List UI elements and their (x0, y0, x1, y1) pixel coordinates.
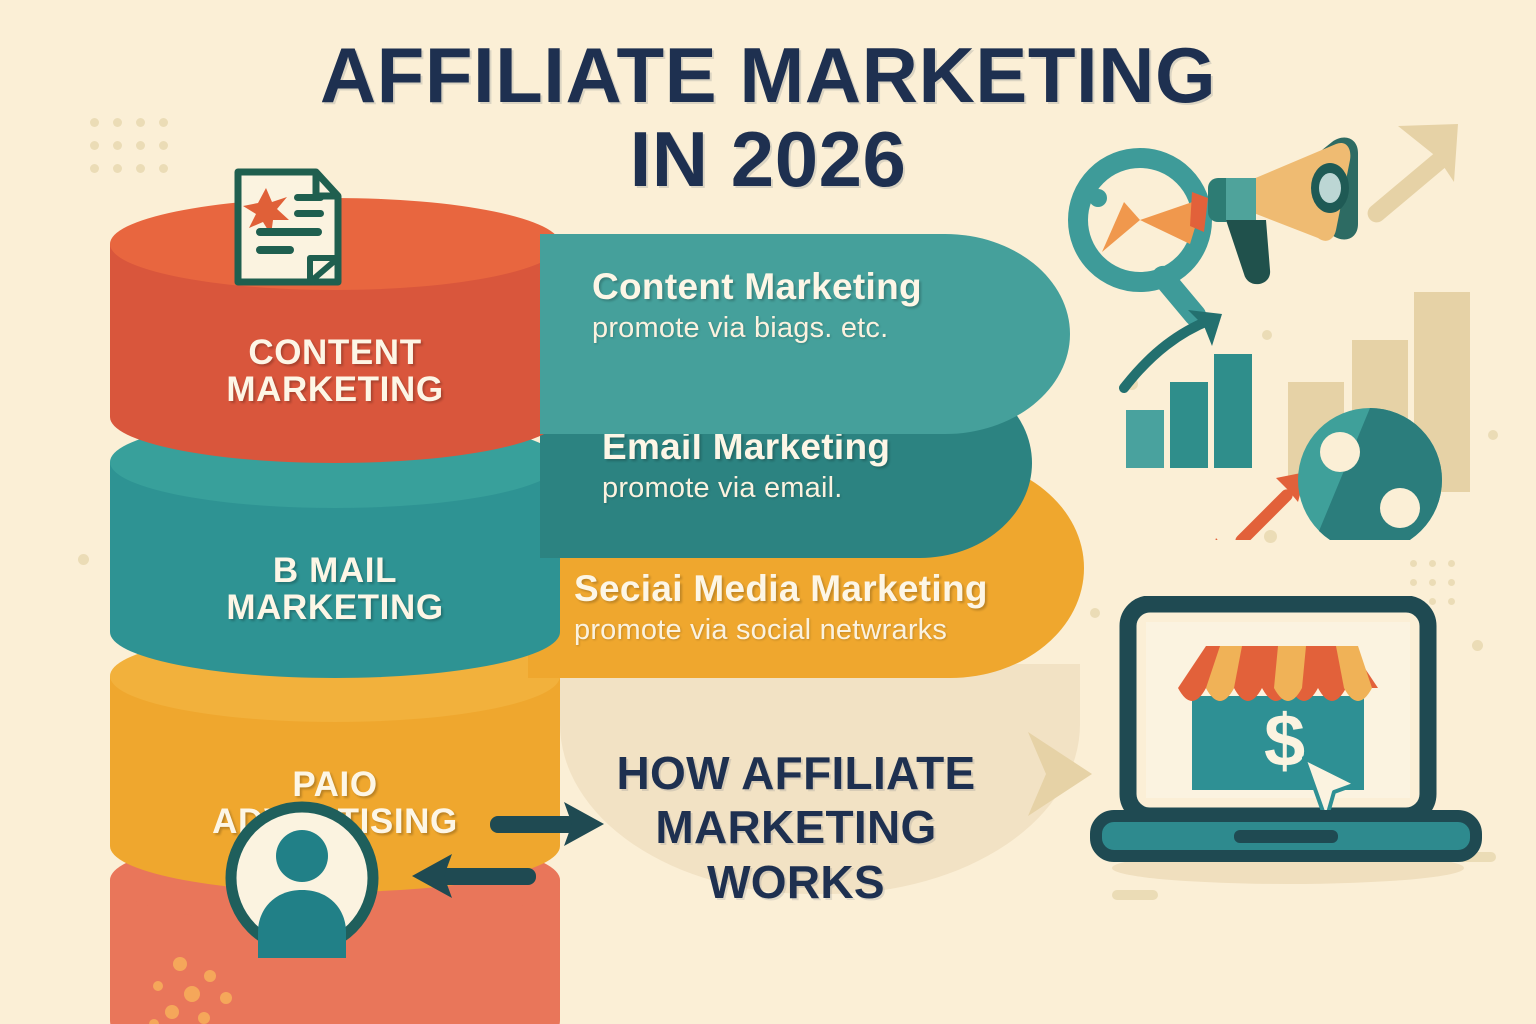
decorative-speck (1112, 890, 1158, 900)
channel-subtext: promote via social netwrarks (574, 614, 947, 647)
growth-arrow-icon (1364, 124, 1458, 226)
decorative-dot-grid-top-left (90, 118, 168, 173)
infographic-canvas: AFFILIATE MARKETING IN 2026 Seciai Media… (0, 0, 1536, 1024)
works-line-1: HOW AFFILIATE (576, 746, 1016, 800)
works-line-3: WORKS (576, 855, 1016, 909)
bar-chart-growth-icon (1124, 310, 1252, 468)
funnel-layer-label-line2: MARKETING (110, 589, 560, 626)
funnel-layer-label-line1: B MAIL (110, 552, 560, 589)
magnifying-glass-icon (1078, 158, 1211, 331)
channel-banner-content[interactable]: Content Marketing promote via biags. etc… (540, 234, 1070, 434)
funnel-layer-label: CONTENT MARKETING (110, 334, 560, 408)
works-line-2: MARKETING (576, 800, 1016, 854)
arrow-left-icon (412, 854, 536, 898)
document-star-icon (232, 166, 344, 288)
title-line-1: AFFILIATE MARKETING (0, 36, 1536, 114)
decorative-speck (78, 554, 89, 565)
double-arrow-icon (1208, 472, 1306, 540)
dollar-sign-icon: $ (1264, 699, 1305, 782)
person-avatar-icon[interactable] (222, 798, 382, 958)
funnel-layer-label-line2: MARKETING (110, 371, 560, 408)
channel-heading: Seciai Media Marketing (574, 568, 988, 610)
channel-subtext: promote via email. (602, 472, 843, 505)
funnel-layer-label: B MAIL MARKETING (110, 552, 560, 626)
channel-heading: Content Marketing (592, 266, 922, 308)
marketing-icon-cluster (1040, 120, 1510, 540)
funnel-layer-label-line1: CONTENT (110, 334, 560, 371)
laptop-storefront-icon[interactable]: $ (1088, 596, 1484, 886)
works-headline: HOW AFFILIATE MARKETING WORKS (576, 746, 1016, 909)
channel-subtext: promote via biags. etc. (592, 312, 888, 345)
megaphone-icon (1208, 138, 1358, 285)
